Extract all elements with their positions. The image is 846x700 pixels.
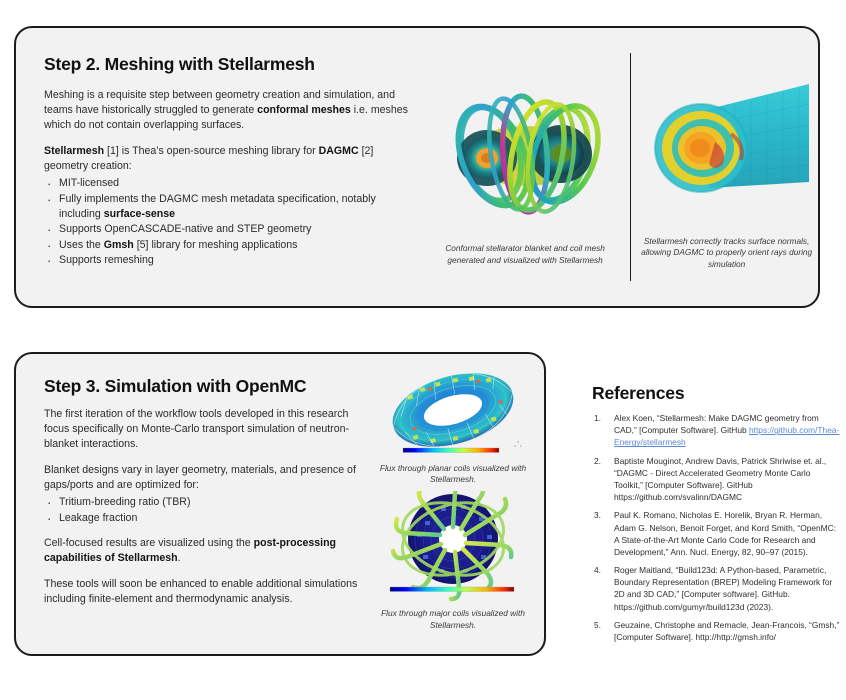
bullet-bold: Gmsh [104,239,134,251]
step-2-p2-part-b: [1] is Thea’s open-source meshing librar… [104,145,319,157]
step-3-p3-part-a: Cell-focused results are visualized usin… [44,537,254,549]
step-3-text-column: Step 3. Simulation with OpenMC The first… [16,354,364,654]
card-step-3: Step 3. Simulation with OpenMC The first… [14,352,546,656]
step-3-figure-column: Flux through planar coils visualized wit… [364,354,542,654]
references-section: References 1.Alex Koen, “Stellarmesh: Ma… [592,383,840,649]
step-2-text-column: Step 2. Meshing with Stellarmesh Meshing… [16,28,424,306]
step-3-title: Step 3. Simulation with OpenMC [44,376,358,397]
step-2-p2-bold-dagmc: DAGMC [319,145,359,157]
bullet-bold: surface-sense [104,208,175,220]
bullet-text-a: Supports OpenCASCADE-native and STEP geo… [59,223,311,235]
step-2-p2-bold-stellarmesh: Stellarmesh [44,145,104,157]
step-2-title: Step 2. Meshing with Stellarmesh [44,54,414,75]
bullet-text-a: Uses the [59,239,104,251]
reference-link[interactable]: https://github.com/gumyr/build123d [614,602,744,612]
list-item: 4.Roger Maitland, “Build123d: A Python-b… [592,564,840,613]
surface-normal-tube-render [639,70,815,230]
reference-number: 3. [594,509,601,521]
reference-number: 4. [594,564,601,576]
colorbar [390,587,514,592]
reference-link[interactable]: https://github.com/svalinn/DAGMC [614,492,742,502]
bullet-text-b: [5] library for meshing applications [134,239,298,251]
references-list: 1.Alex Koen, “Stellarmesh: Make DAGMC ge… [592,412,840,643]
list-item: 1.Alex Koen, “Stellarmesh: Make DAGMC ge… [592,412,840,449]
card-step-2: Step 2. Meshing with Stellarmesh Meshing… [14,26,820,308]
step-2-p1-bold: conformal meshes [257,104,351,116]
flux-major-coils-torus-render [368,491,538,603]
reference-link[interactable]: http://http://gmsh.info/ [695,632,776,642]
reference-number: 2. [594,455,601,467]
list-item: 5.Geuzaine, Christophe and Remacle, Jean… [592,619,840,643]
list-item: 3.Paul K. Romano, Nicholas E. Horelik, B… [592,509,840,558]
list-item: Uses the Gmsh [5] library for meshing ap… [44,238,414,253]
step-3-figure-a-caption: Flux through planar coils visualized wit… [369,463,537,485]
bullet-text-a: Supports remeshing [59,254,154,266]
slide-root: Step 2. Meshing with Stellarmesh Meshing… [0,0,846,700]
step-2-bullet-list: MIT-licensed Fully implements the DAGMC … [44,176,414,268]
step-2-figure-a: Conformal stellarator blanket and coil m… [424,28,625,306]
list-item: Leakage fraction [44,511,358,526]
colorbar [403,448,499,453]
list-item: Supports OpenCASCADE-native and STEP geo… [44,222,414,237]
list-item: Supports remeshing [44,253,414,268]
flux-planar-coils-torus-render [368,372,538,460]
references-title: References [592,383,840,404]
list-item: 2.Baptiste Mouginot, Andrew Davis, Patri… [592,455,840,504]
reference-number: 5. [594,619,601,631]
step-2-paragraph-2: Stellarmesh [1] is Thea’s open-source me… [44,144,414,174]
step-3-paragraph-4: These tools will soon be enhanced to ena… [44,577,358,607]
reference-number: 1. [594,412,601,424]
bullet-text-a: MIT-licensed [59,177,119,189]
reference-text: Baptiste Mouginot, Andrew Davis, Patrick… [614,456,826,490]
list-item: Fully implements the DAGMC mesh metadata… [44,192,414,222]
step-3-bullet-list: Tritium-breeding ratio (TBR) Leakage fra… [44,495,358,526]
reference-text: Roger Maitland, “Build123d: A Python-bas… [614,565,832,599]
reference-tail: (2023). [744,602,773,612]
step-3-paragraph-2: Blanket designs vary in layer geometry, … [44,463,358,493]
step-3-p3-part-c: . [178,552,181,564]
step-2-figure-a-caption: Conformal stellarator blanket and coil m… [427,243,623,265]
step-2-figure-b: Stellarmesh correctly tracks surface nor… [635,28,818,306]
list-item: MIT-licensed [44,176,414,191]
figure-divider [630,53,631,281]
step-2-paragraph-1: Meshing is a requisite step between geom… [44,88,414,133]
step-3-figure-b-caption: Flux through major coils visualized with… [369,608,537,630]
list-item: Tritium-breeding ratio (TBR) [44,495,358,510]
step-2-figure-b-caption: Stellarmesh correctly tracks surface nor… [641,236,813,270]
reference-text: Paul K. Romano, Nicholas E. Horelik, Bry… [614,510,836,557]
step-3-paragraph-1: The first iteration of the workflow tool… [44,407,358,452]
step-3-paragraph-3: Cell-focused results are visualized usin… [44,536,358,566]
stellarator-blanket-coil-mesh-render [425,74,625,239]
